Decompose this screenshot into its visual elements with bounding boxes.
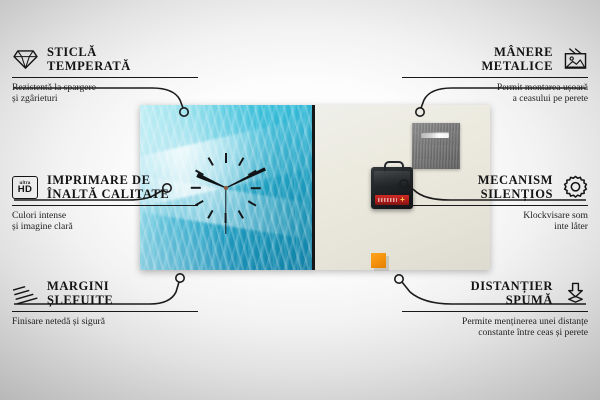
feature-description: Permit montarea ușoară a ceasului pe per…	[402, 82, 588, 105]
feature-divider	[12, 77, 198, 78]
feature-header: MÂNERE METALICE	[402, 44, 588, 74]
hanger-keyhole-slot	[421, 132, 449, 138]
wall-frame-icon	[562, 46, 588, 72]
feature-tempered-glass: STICLĂ TEMPERATĂ Rezistentă la spargere …	[12, 44, 198, 105]
feature-header: MECANISM SILENȚIOS	[402, 172, 588, 202]
feature-header: DISTANȚIER SPUMĂ	[402, 278, 588, 308]
diamond-icon	[12, 46, 38, 72]
feature-header: MARGINI ȘLEFUITE	[12, 278, 198, 308]
feature-description: Finisare netedă și sigură	[12, 316, 198, 327]
ultra-hd-icon: ultra HD	[12, 174, 38, 200]
feature-description: Klockvisare som inte låter	[402, 210, 588, 233]
battery-label	[378, 198, 397, 202]
feature-print-quality: ultra HD IMPRIMARE DE ÎNALTĂ CALITATE Cu…	[12, 172, 198, 233]
feature-metal-hangers: MÂNERE METALICE Permit montarea ușoară a…	[402, 44, 588, 105]
feature-description: Permite menținerea unei distanțe constan…	[402, 316, 588, 339]
arrow-down-pad-icon	[562, 280, 588, 306]
feature-title: DISTANȚIER SPUMĂ	[471, 279, 553, 307]
feature-divider	[402, 311, 588, 312]
feature-description: Rezistentă la spargere și zgârieturi	[12, 82, 198, 105]
feature-title: MECANISM SILENȚIOS	[478, 173, 553, 201]
feature-divider	[402, 205, 588, 206]
feature-divider	[12, 205, 198, 206]
ultra-hd-icon-main-text: HD	[18, 185, 32, 195]
polished-edges-icon	[12, 280, 38, 306]
feature-polished-edges: MARGINI ȘLEFUITE Finisare netedă și sigu…	[12, 278, 198, 327]
feature-title: IMPRIMARE DE ÎNALTĂ CALITATE	[47, 173, 169, 201]
feature-header: STICLĂ TEMPERATĂ	[12, 44, 198, 74]
feature-divider	[12, 311, 198, 312]
feature-silent-mechanism: MECANISM SILENȚIOS Klockvisare som inte …	[402, 172, 588, 233]
gear-icon	[562, 174, 588, 200]
feature-divider	[402, 77, 588, 78]
product-infographic: +	[0, 0, 600, 400]
feature-title: MARGINI ȘLEFUITE	[47, 279, 113, 307]
feature-description: Culori intense și imagine clară	[12, 210, 198, 233]
feature-foam-spacer: DISTANȚIER SPUMĂ Permite menținerea unei…	[402, 278, 588, 339]
feature-header: ultra HD IMPRIMARE DE ÎNALTĂ CALITATE	[12, 172, 198, 202]
feature-title: STICLĂ TEMPERATĂ	[47, 45, 131, 73]
metal-hanger-plate	[412, 123, 460, 169]
foam-spacer	[371, 253, 386, 268]
feature-title: MÂNERE METALICE	[481, 45, 553, 73]
clock-center-hub	[224, 186, 228, 190]
